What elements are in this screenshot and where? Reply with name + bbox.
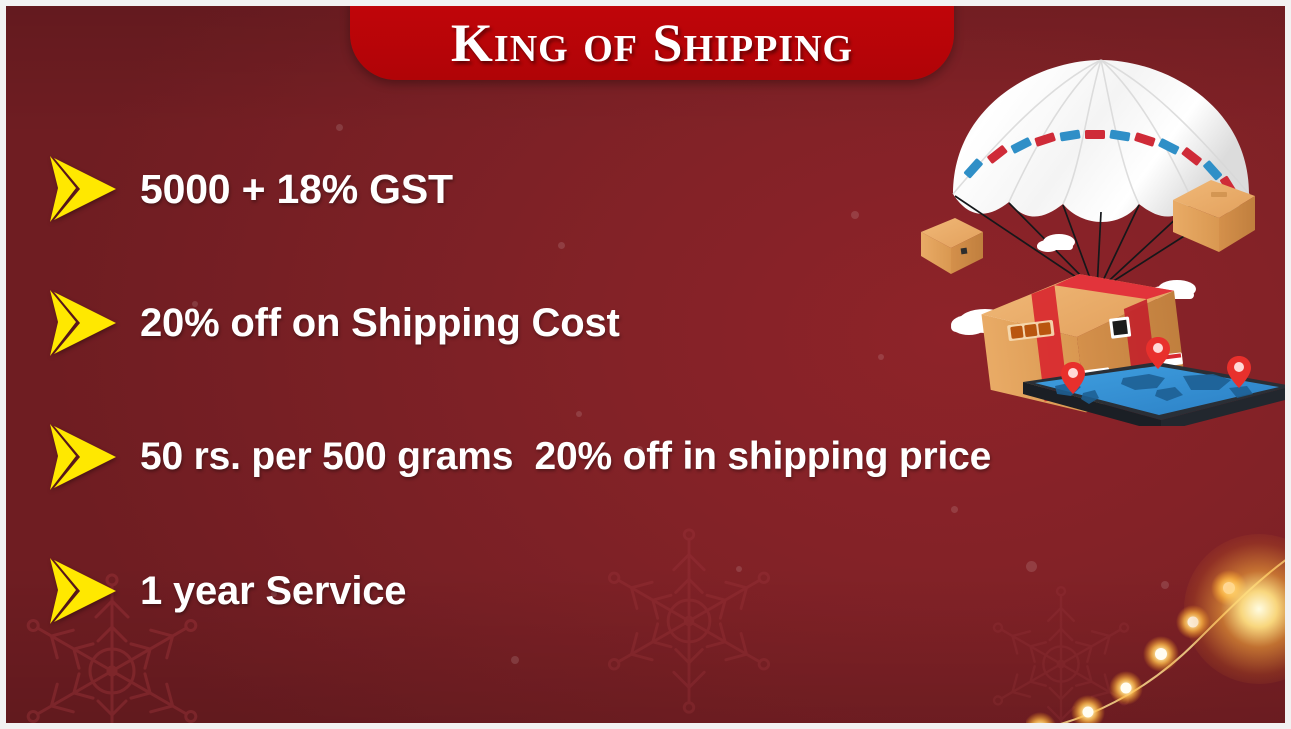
- list-item-label: 5000 + 18% GST: [140, 166, 453, 212]
- list-item-label: 20% off on Shipping Cost: [140, 300, 620, 346]
- list-item: 20% off on Shipping Cost: [46, 280, 1226, 366]
- page-title: King of Shipping: [451, 12, 853, 74]
- decor-dot: [511, 656, 519, 664]
- double-chevron-icon: [46, 418, 124, 496]
- decor-dot: [336, 124, 343, 131]
- double-chevron-icon: [46, 284, 124, 362]
- list-item: 50 rs. per 500 grams 20% off in shipping…: [46, 414, 1226, 500]
- list-item: 1 year Service: [46, 548, 1226, 634]
- list-item-label: 50 rs. per 500 grams 20% off in shipping…: [140, 434, 991, 480]
- list-item-label: 1 year Service: [140, 568, 406, 614]
- title-badge: King of Shipping: [350, 6, 954, 80]
- feature-list: 5000 + 18% GST 20% off on Shipping Cost: [46, 146, 1226, 634]
- promo-banner: King of Shipping 5000 + 18% GST: [0, 0, 1291, 729]
- banner-card: King of Shipping 5000 + 18% GST: [6, 6, 1285, 723]
- double-chevron-icon: [46, 552, 124, 630]
- double-chevron-icon: [46, 150, 124, 228]
- list-item: 5000 + 18% GST: [46, 146, 1226, 232]
